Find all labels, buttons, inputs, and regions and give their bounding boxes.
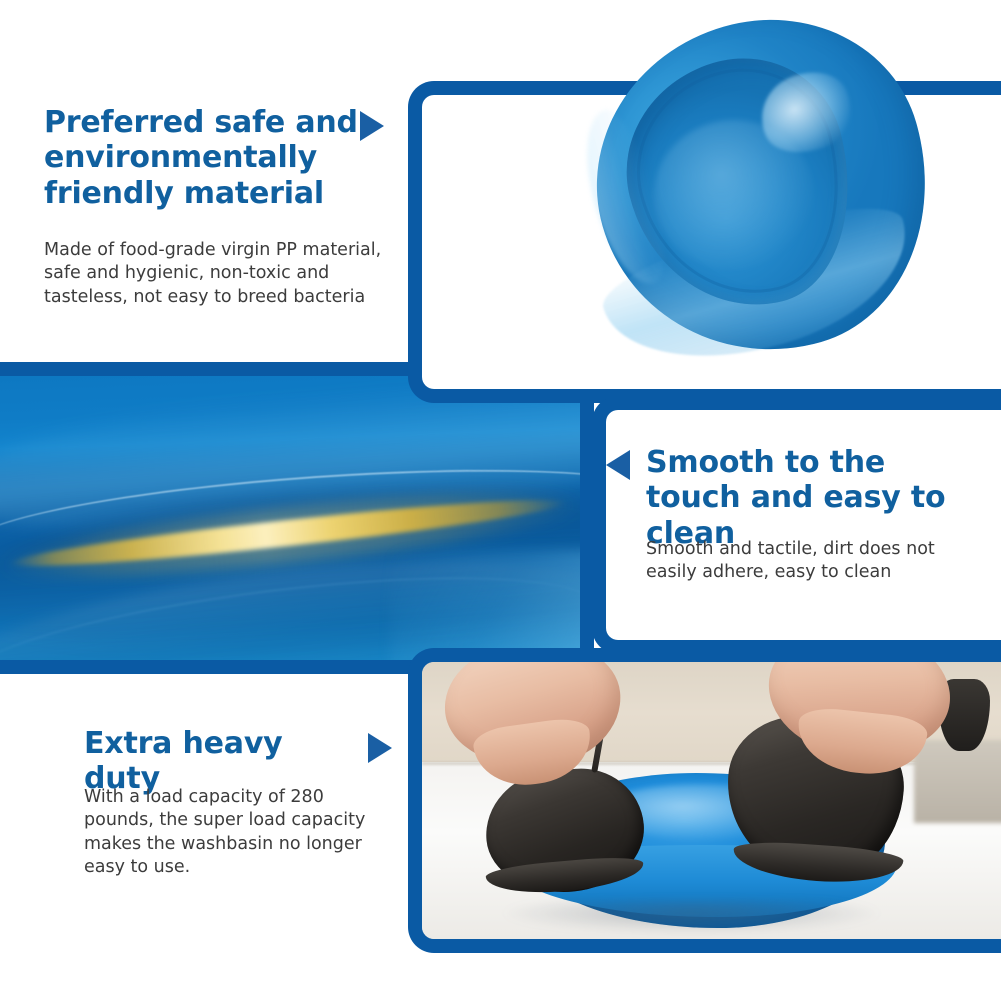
feature-title-smooth: Smooth to the touch and easy to clean [646,445,986,551]
arrow-left-icon [606,450,630,480]
feature-body-heavy-duty: With a load capacity of 280 pounds, the … [84,786,396,880]
arrow-right-icon [360,111,384,141]
feature-body-material: Made of food-grade virgin PP material, s… [44,239,394,309]
panel-product-frame [408,81,1001,403]
photo-bedpan-shadow [504,900,879,933]
arrow-right-icon [368,733,392,763]
feature-title-material: Preferred safe and environmentally frien… [44,105,364,211]
photo-right-mat [914,740,1001,823]
load-test-scene [422,662,1001,939]
panel-load-test-photo [408,648,1001,953]
panel-macro-surface [0,362,594,674]
product-infographic: Preferred safe and environmentally frien… [0,0,1001,1001]
feature-body-smooth: Smooth and tactile, dirt does not easily… [646,538,966,585]
